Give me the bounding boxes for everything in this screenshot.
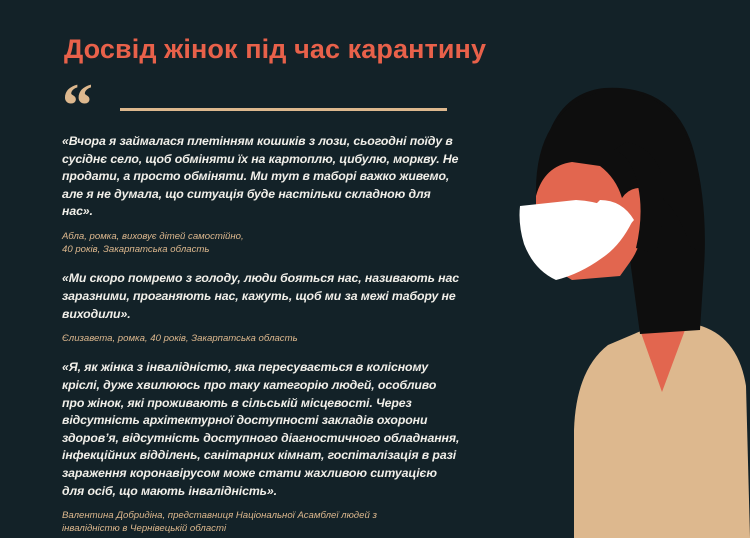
quote-text: «Я, як жінка з інвалідністю, яка пересув… [62,359,460,500]
quote-attribution-line: Валентина Добридіна, представниця Націон… [62,509,460,522]
divider-rule [120,108,447,111]
quote-attribution: Єлизавета, ромка, 40 років, Закарпатська… [62,332,460,345]
page-title: Досвід жінок під час карантину [64,34,486,65]
quote-item: «Я, як жінка з інвалідністю, яка пересув… [62,359,460,535]
poster-root: Досвід жінок під час карантину “ «Вчора … [0,0,750,538]
woman-with-mask-illustration [480,0,750,538]
quote-list: «Вчора я займалася плетінням кошиків з л… [62,133,460,538]
quote-attribution: Абла, ромка, виховує дітей самостійно, 4… [62,230,460,256]
quote-attribution-line: Абла, ромка, виховує дітей самостійно, [62,230,460,243]
quotation-mark-icon: “ [62,75,91,137]
quote-attribution-line: 40 років, Закарпатська область [62,243,460,256]
quote-attribution-line: інвалідністю в Чернівецькій області [62,522,460,535]
quote-attribution-line: Єлизавета, ромка, 40 років, Закарпатська… [62,332,460,345]
quote-header: “ [62,85,452,121]
quote-item: «Вчора я займалася плетінням кошиків з л… [62,133,460,256]
quote-text: «Вчора я займалася плетінням кошиків з л… [62,133,460,221]
text-column: Досвід жінок під час карантину “ «Вчора … [0,0,500,538]
quote-text: «Ми скоро помремо з голоду, люди бояться… [62,270,460,323]
quote-item: «Ми скоро помремо з голоду, люди бояться… [62,270,460,345]
quote-attribution: Валентина Добридіна, представниця Націон… [62,509,460,535]
